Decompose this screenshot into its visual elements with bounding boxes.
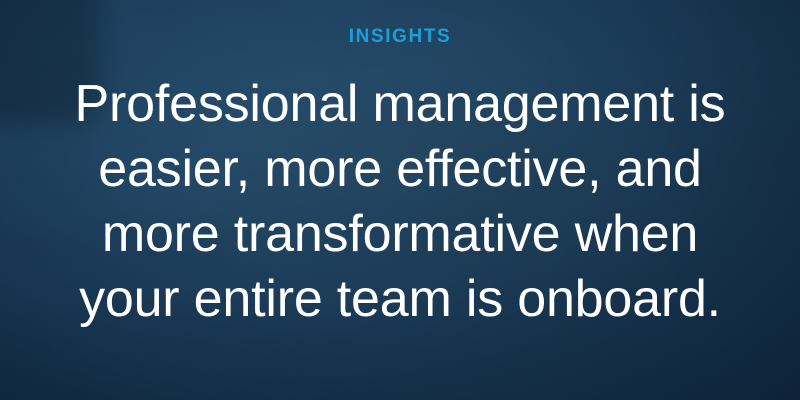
insights-quote-card: INSIGHTS Professional management is easi… [0,0,800,400]
headline-line: your entire team is onboard. [50,267,750,332]
headline-quote: Professional management is easier, more … [50,72,750,332]
eyebrow-label: INSIGHTS [349,27,452,46]
headline-line: Professional management is [50,72,750,137]
headline-line: more transformative when [50,202,750,267]
card-content: INSIGHTS Professional management is easi… [0,0,800,400]
headline-line: easier, more effective, and [50,137,750,202]
